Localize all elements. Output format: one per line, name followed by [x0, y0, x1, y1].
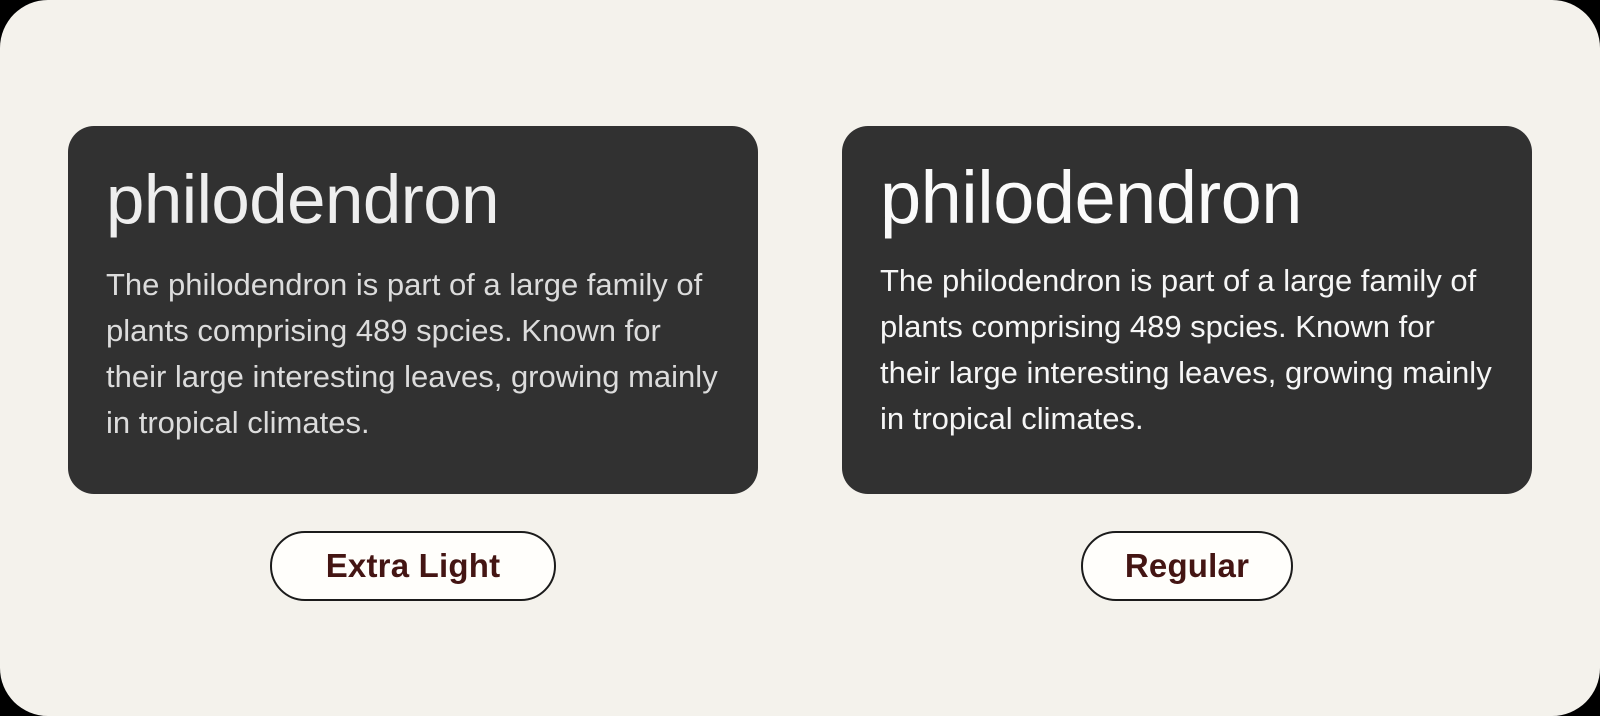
font-specimen-extra-light: philodendron The philodendron is part of…	[68, 126, 758, 601]
specimen-body-wrap: The philodendron is part of a large fami…	[880, 258, 1494, 442]
specimen-body-text: The philodendron is part of a large fami…	[106, 262, 720, 446]
specimen-body-text: The philodendron is part of a large fami…	[880, 258, 1494, 442]
specimen-heading: philodendron	[880, 152, 1494, 244]
font-weight-comparison: philodendron The philodendron is part of…	[68, 126, 1532, 601]
specimen-card-regular: philodendron The philodendron is part of…	[842, 126, 1532, 494]
specimen-heading: philodendron	[106, 154, 720, 246]
weight-label-button-extra-light[interactable]: Extra Light	[270, 531, 556, 601]
specimen-body-wrap: The philodendron is part of a large fami…	[106, 262, 720, 446]
page-root: philodendron The philodendron is part of…	[0, 0, 1600, 716]
font-specimen-regular: philodendron The philodendron is part of…	[842, 126, 1532, 601]
specimen-card-extra-light: philodendron The philodendron is part of…	[68, 126, 758, 494]
weight-label-button-regular[interactable]: Regular	[1081, 531, 1293, 601]
